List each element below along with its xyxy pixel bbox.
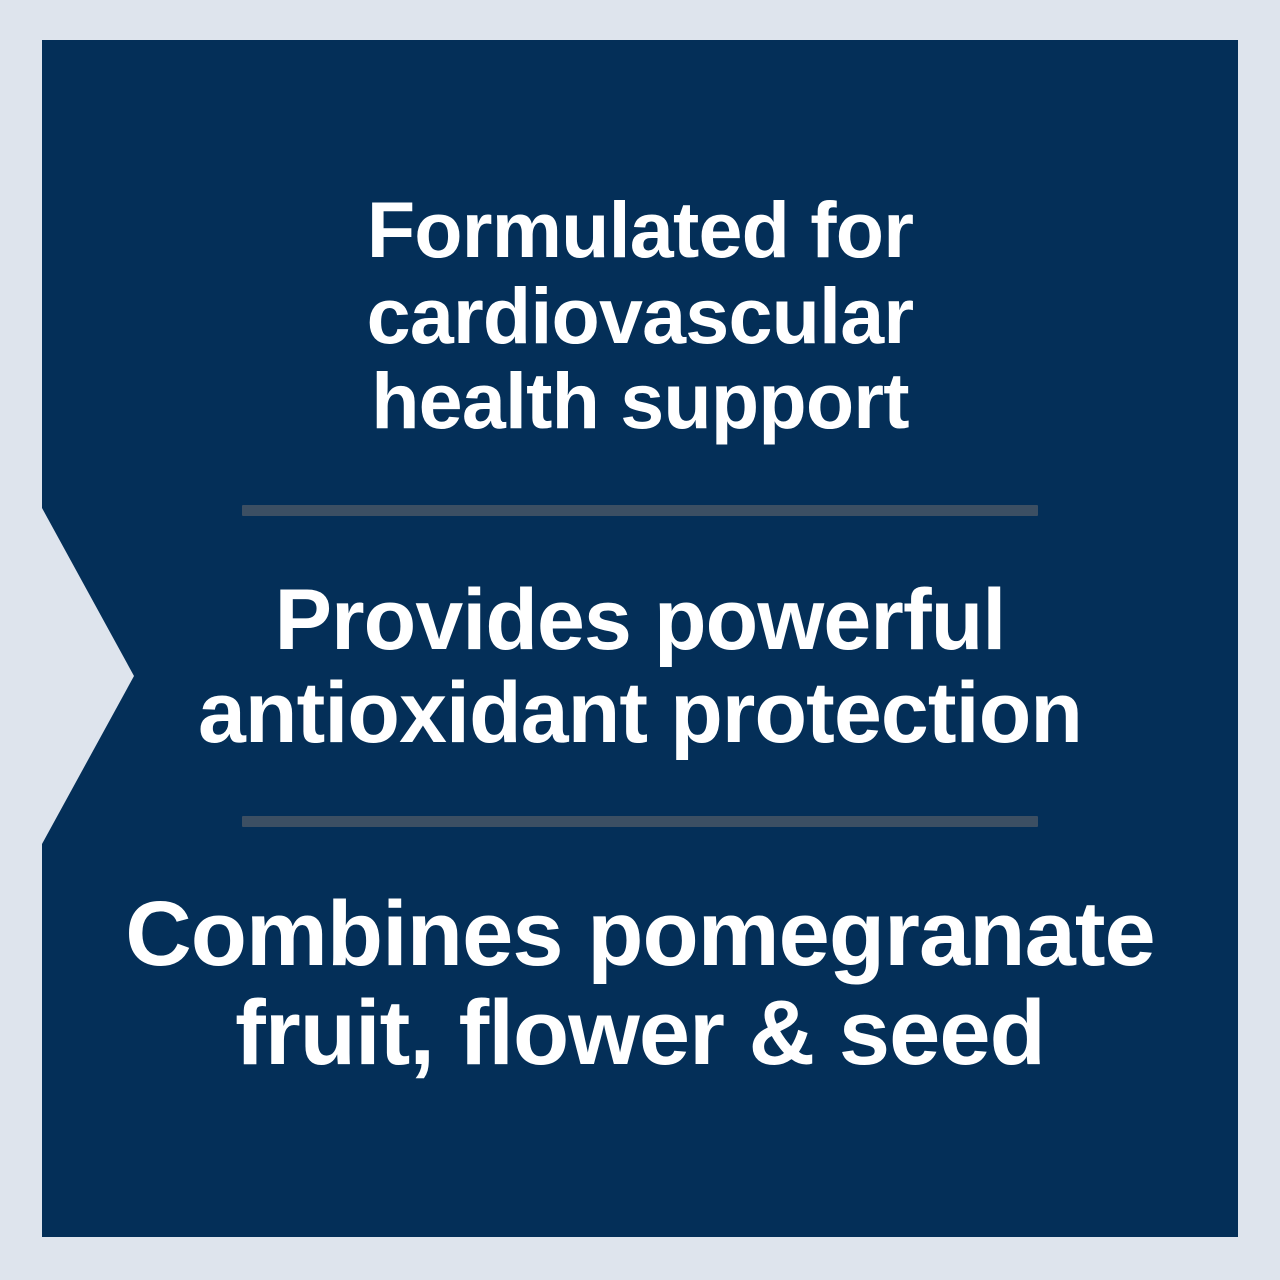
claim-pomegranate: Combines pomegranate fruit, flower & see… — [72, 885, 1208, 1084]
divider-2 — [242, 816, 1038, 827]
claims-list: Formulated for cardiovascular health sup… — [42, 40, 1238, 1237]
feature-panel: Formulated for cardiovascular health sup… — [42, 40, 1238, 1237]
divider-1 — [242, 505, 1038, 516]
claim-antioxidant: Provides powerful antioxidant protection — [72, 574, 1208, 760]
benefits-callout-graphic: Formulated for cardiovascular health sup… — [0, 0, 1280, 1280]
claim-cardiovascular: Formulated for cardiovascular health sup… — [72, 187, 1208, 443]
